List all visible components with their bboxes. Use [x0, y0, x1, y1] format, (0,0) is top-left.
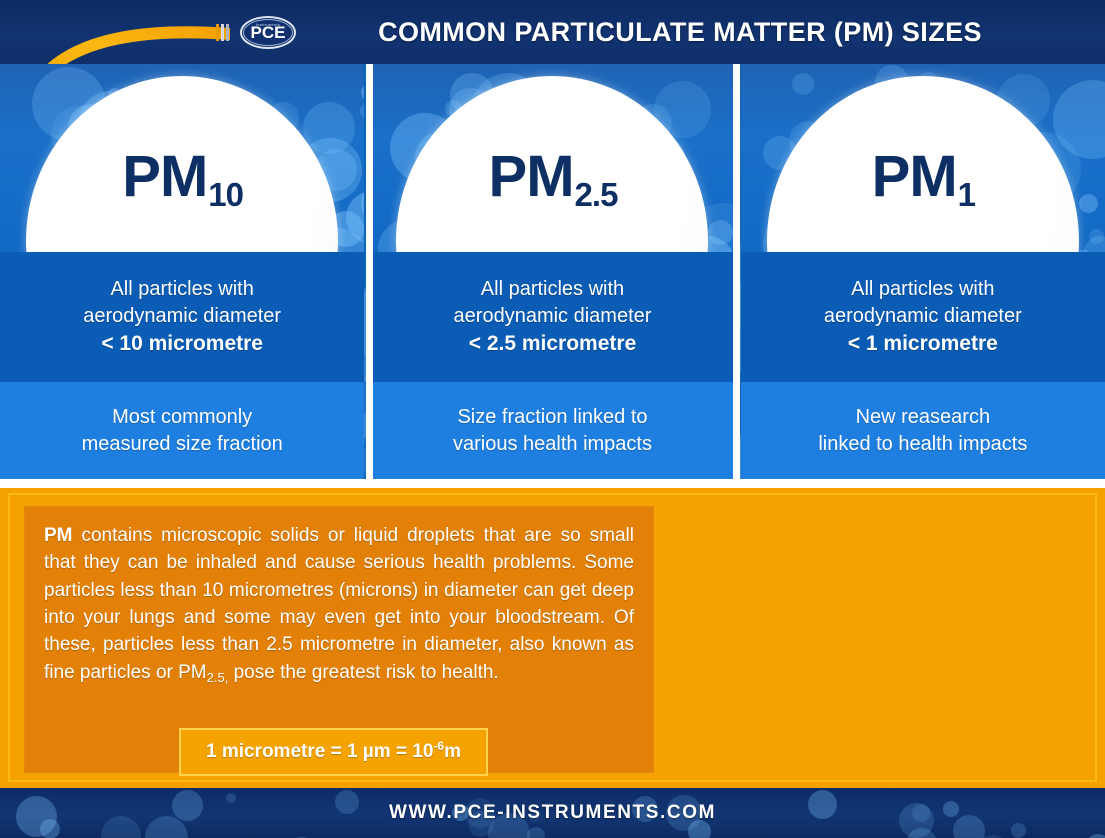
pm-label-pm1: PM1 [741, 148, 1105, 206]
info-panel-border: PM contains microscopic solids or liquid… [8, 493, 1097, 782]
definition-line-1: All particles with [481, 276, 624, 303]
info-body-1: contains microscopic solids or liquid dr… [44, 525, 634, 683]
header-bar: PCE Instruments COMMON PARTICULATE MATTE… [0, 0, 1105, 64]
pm-label-sub: 2.5 [575, 176, 618, 213]
infographic-root: PCE Instruments COMMON PARTICULATE MATTE… [0, 0, 1105, 838]
pm-card-definition: All particles with aerodynamic diameter … [0, 252, 364, 382]
note-line-2: measured size fraction [82, 431, 283, 458]
note-line-1: Most commonly [112, 404, 252, 431]
definition-line-2: aerodynamic diameter [824, 303, 1022, 330]
info-body-2: pose the greatest risk to health. [228, 662, 498, 683]
pm-card-pm25[interactable]: PM2.5 All particles with aerodynamic dia… [370, 64, 734, 479]
formula-text-a: 1 micrometre = 1 µm = 10 [206, 741, 433, 763]
pce-logo-text: PCE [240, 16, 296, 49]
definition-line-1: All particles with [110, 276, 253, 303]
pm-card-note: Most commonly measured size fraction [0, 382, 364, 479]
formula-text-b: m [444, 741, 461, 763]
pm-cards-row: PM10 All particles with aerodynamic diam… [0, 64, 1105, 479]
pm-label-main: PM [872, 144, 957, 209]
unit-formula-box: 1 micrometre = 1 µm = 10-6 m [179, 728, 488, 776]
info-paragraph: PM contains microscopic solids or liquid… [44, 522, 634, 686]
pm-card-dome-area: PM2.5 [370, 64, 734, 252]
pm-label-pm10: PM10 [0, 148, 364, 206]
note-line-2: linked to health impacts [818, 431, 1027, 458]
page-title: COMMON PARTICULATE MATTER (PM) SIZES [300, 0, 1060, 64]
info-text-panel: PM contains microscopic solids or liquid… [24, 506, 654, 773]
pm-label-main: PM [489, 144, 574, 209]
pce-logo: PCE Instruments [240, 16, 296, 49]
info-lead: PM [44, 525, 73, 546]
logo-bars-icon [216, 24, 234, 41]
definition-threshold: < 2.5 micrometre [469, 330, 637, 358]
pm-card-note: Size fraction linked to various health i… [370, 382, 734, 479]
pm-card-definition: All particles with aerodynamic diameter … [741, 252, 1105, 382]
definition-line-1: All particles with [851, 276, 994, 303]
formula-exponent: -6 [433, 739, 444, 753]
info-panel: PM contains microscopic solids or liquid… [0, 488, 1105, 788]
pm-card-pm1[interactable]: PM1 All particles with aerodynamic diame… [741, 64, 1105, 479]
definition-line-2: aerodynamic diameter [454, 303, 652, 330]
pm-card-note: New reasearch linked to health impacts [741, 382, 1105, 479]
pce-logo-subtext: Instruments [256, 22, 280, 27]
card-divider-left [366, 64, 373, 479]
section-divider [0, 479, 1105, 488]
card-divider-right [733, 64, 740, 479]
website-url[interactable]: WWW.PCE-INSTRUMENTS.COM [0, 788, 1105, 838]
pm-label-pm25: PM2.5 [370, 148, 734, 206]
pm-label-sub: 10 [208, 176, 243, 213]
pm-card-dome-area: PM10 [0, 64, 364, 252]
definition-threshold: < 10 micrometre [101, 330, 263, 358]
note-line-2: various health impacts [453, 431, 652, 458]
note-line-1: New reasearch [856, 404, 991, 431]
definition-threshold: < 1 micrometre [848, 330, 998, 358]
definition-line-2: aerodynamic diameter [83, 303, 281, 330]
pm-label-sub: 1 [958, 176, 975, 213]
info-subscript: 2.5, [207, 670, 229, 685]
pm-card-dome-area: PM1 [741, 64, 1105, 252]
pm-label-main: PM [122, 144, 207, 209]
footer-bar: WWW.PCE-INSTRUMENTS.COM [0, 788, 1105, 838]
pm-card-definition: All particles with aerodynamic diameter … [370, 252, 734, 382]
note-line-1: Size fraction linked to [457, 404, 647, 431]
pm-card-pm10[interactable]: PM10 All particles with aerodynamic diam… [0, 64, 364, 479]
